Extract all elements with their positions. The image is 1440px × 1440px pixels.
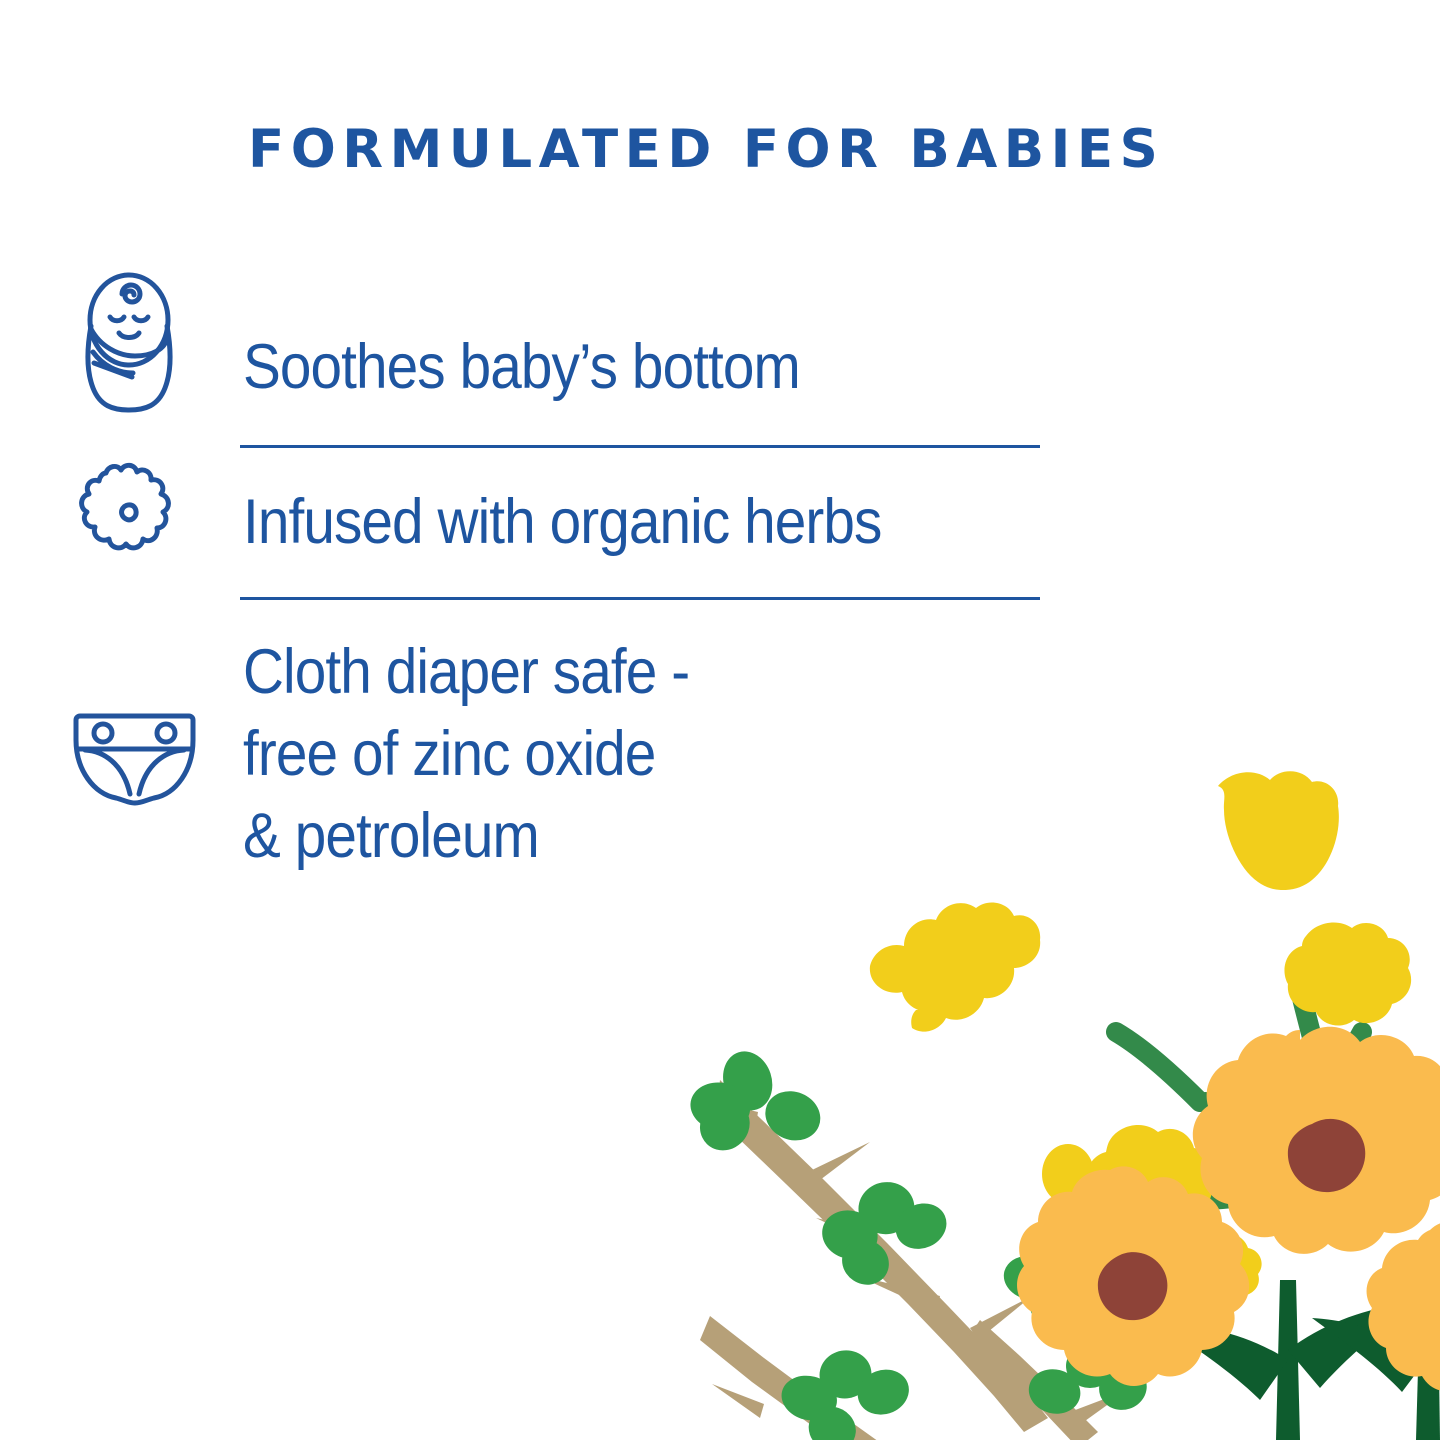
orange-calendula-flowers <box>1017 1027 1440 1391</box>
page-title: FORMULATED FOR BABIES <box>248 122 1248 178</box>
calendula-flowers-illustration <box>640 740 1440 1440</box>
benefit-divider-1 <box>240 445 1040 448</box>
benefit-label-3: Cloth diaper safe - free of zinc oxide &… <box>243 632 689 878</box>
benefit-label-1: Soothes baby’s bottom <box>243 327 800 409</box>
benefit-divider-2 <box>240 597 1040 600</box>
herb-flower-icon <box>66 456 196 581</box>
benefit-label-2: Infused with organic herbs <box>243 482 881 564</box>
cloth-diaper-icon <box>62 702 207 812</box>
swaddled-baby-icon <box>74 268 184 418</box>
formulated-for-babies-infographic: FORMULATED FOR BABIES Soothes baby’s bot… <box>0 0 1440 1440</box>
